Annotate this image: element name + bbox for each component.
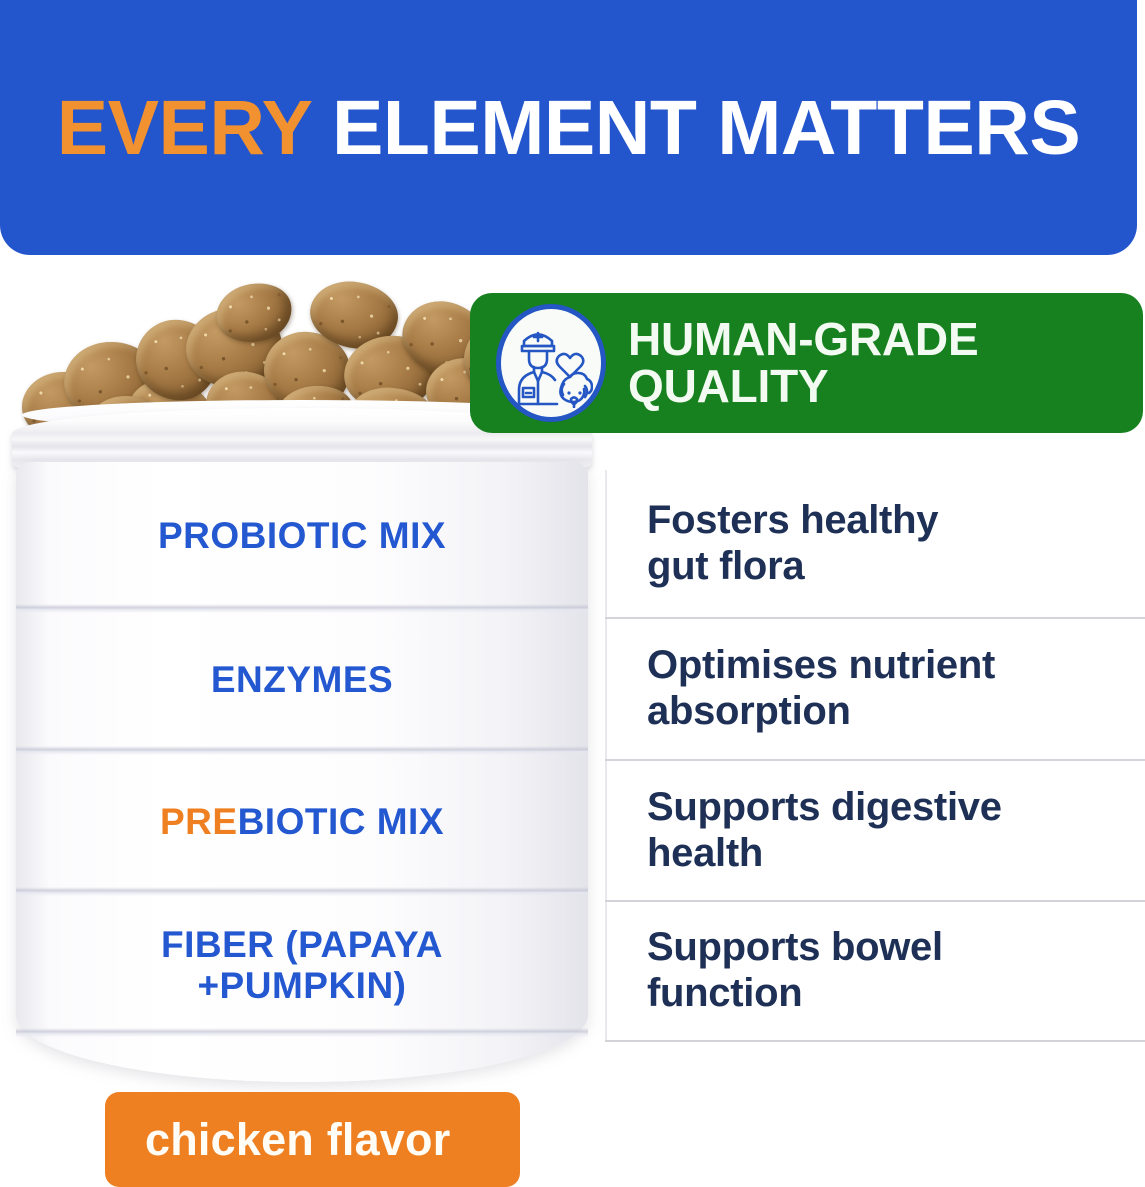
benefit-text: Supports digestive health <box>605 785 1002 876</box>
flavor-badge: chicken flavor <box>105 1092 520 1187</box>
jar-body: PROBIOTIC MIX ENZYMES PREBIOTIC MIX FIBE… <box>16 462 588 1082</box>
jar-segment-label-main: ENZYMES <box>211 659 393 700</box>
jar-segment-label: PROBIOTIC MIX <box>158 515 446 556</box>
jar-segment-label-main: FIBER (PAPAYA +PUMPKIN) <box>161 924 443 1006</box>
jar-segment-label-main: BIOTIC MIX <box>238 801 444 842</box>
jar-segment-probiotic: PROBIOTIC MIX <box>16 462 588 609</box>
jar-segment-fiber: FIBER (PAPAYA +PUMPKIN) <box>16 892 588 1038</box>
header-banner: EVERY ELEMENT MATTERS <box>0 0 1137 255</box>
benefit-row: Supports digestive health <box>605 761 1145 900</box>
benefit-row: Optimises nutrient absorption <box>605 619 1145 759</box>
veterinarian-with-dog-and-heart-icon <box>496 304 606 422</box>
jar-segment-label: ENZYMES <box>211 659 393 700</box>
benefit-text: Optimises nutrient absorption <box>605 643 995 734</box>
jar-segment-label: FIBER (PAPAYA +PUMPKIN) <box>161 924 443 1007</box>
human-grade-quality-badge: HUMAN-GRADE QUALITY <box>470 293 1143 433</box>
benefit-row: Supports bowel function <box>605 902 1145 1040</box>
benefit-text: Fosters healthy gut flora <box>605 498 938 589</box>
page-title: EVERY ELEMENT MATTERS <box>0 80 1137 166</box>
benefit-text: Supports bowel function <box>605 925 943 1016</box>
jar-segment-divider <box>16 1028 588 1037</box>
benefit-row: Fosters healthy gut flora <box>605 470 1145 617</box>
jar-segment-label: PREBIOTIC MIX <box>160 801 444 842</box>
jar-segment-enzymes: ENZYMES <box>16 609 588 751</box>
benefit-divider <box>605 1040 1145 1042</box>
human-grade-quality-label: HUMAN-GRADE QUALITY <box>628 316 978 410</box>
jar-segment-label-main: PROBIOTIC MIX <box>158 515 446 556</box>
benefits-list: Fosters healthy gut flora Optimises nutr… <box>605 470 1145 1040</box>
page-title-accent: EVERY <box>57 85 311 171</box>
page-title-rest: ELEMENT MATTERS <box>311 85 1080 171</box>
flavor-badge-label: chicken flavor <box>145 1114 450 1166</box>
jar-segment-prebiotic: PREBIOTIC MIX <box>16 751 588 892</box>
jar-segment-label-prefix: PRE <box>160 801 238 842</box>
